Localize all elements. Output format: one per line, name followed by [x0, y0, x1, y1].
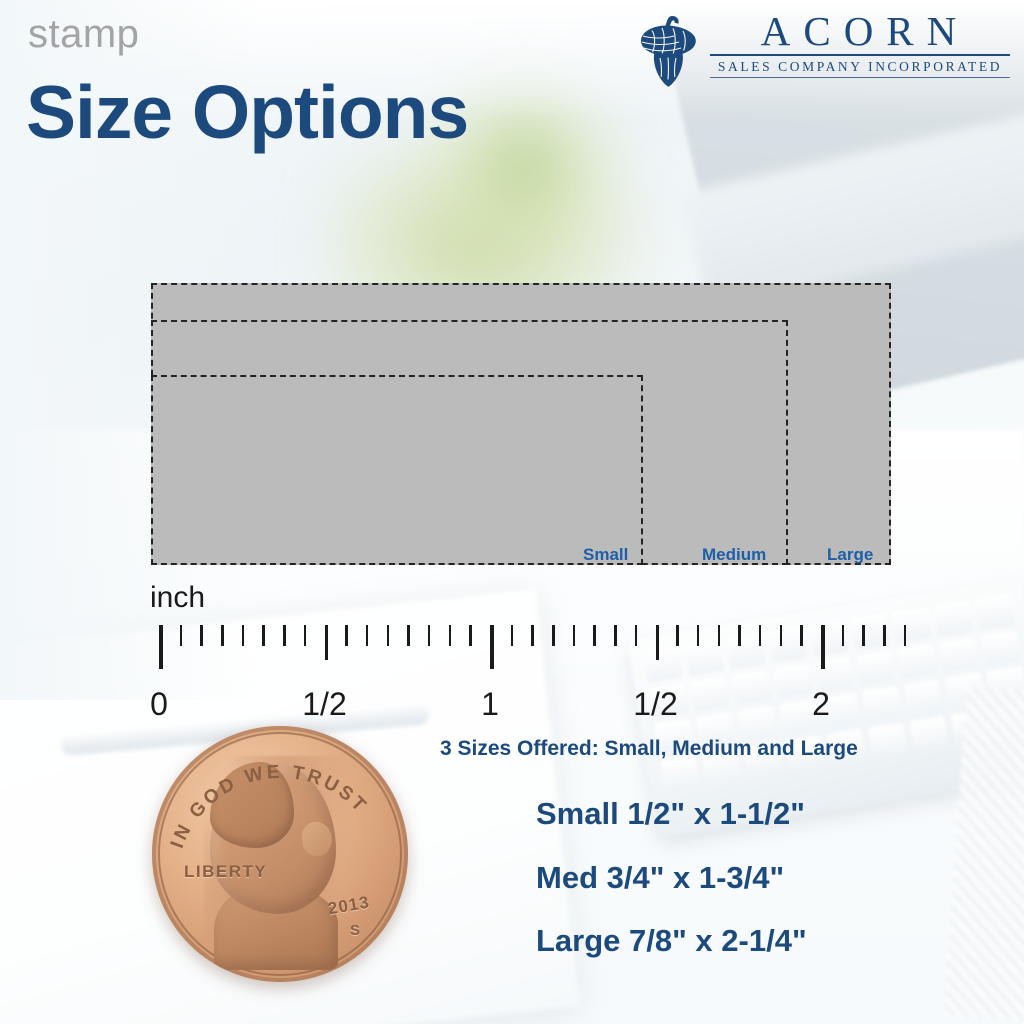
ruler-tick: [200, 625, 203, 646]
ruler-tick: [325, 625, 328, 660]
ruler-tick: [676, 625, 679, 646]
ruler-tick: [449, 625, 452, 646]
ruler-tick: [656, 625, 659, 660]
ruler-tick: [759, 625, 762, 646]
sizes-heading: 3 Sizes Offered: Small, Medium and Large: [440, 738, 858, 759]
ruler-tick: [531, 625, 534, 646]
ruler-label: 2: [812, 688, 830, 720]
ruler-tick: [511, 625, 514, 646]
svg-text:IN GOD WE TRUST: IN GOD WE TRUST: [167, 762, 372, 851]
ruler-tick: [159, 625, 163, 669]
ruler-tick: [573, 625, 576, 646]
ruler-label: 0: [150, 688, 168, 720]
ruler-tick: [842, 625, 845, 646]
poster-canvas: stamp Size Options: [0, 0, 1024, 1024]
ruler-tick: [283, 625, 286, 646]
size-line-small: Small 1/2" x 1-1/2": [536, 798, 805, 829]
ruler-tick: [428, 625, 431, 646]
ruler-tick: [490, 625, 494, 669]
ruler-tick: [242, 625, 245, 646]
ruler-tick: [262, 625, 265, 646]
coin-liberty: LIBERTY: [184, 862, 267, 882]
ruler-tick: [180, 625, 183, 646]
ruler-tick: [387, 625, 390, 646]
ruler-tick: [614, 625, 617, 646]
ruler-tick: [738, 625, 741, 646]
ruler-label: 1: [481, 688, 499, 720]
ruler-tick: [345, 625, 348, 646]
ruler-tick: [469, 625, 472, 646]
penny-coin: IN GOD WE TRUST LIBERTY 2013 S: [152, 726, 408, 982]
ruler-tick: [407, 625, 410, 646]
ruler-tick: [221, 625, 224, 646]
coin-motto: IN GOD WE TRUST: [152, 726, 408, 982]
ruler-label: 1/2: [633, 688, 677, 720]
ruler-unit-label: inch: [150, 583, 205, 613]
ruler-tick: [635, 625, 638, 646]
ruler-tick: [718, 625, 721, 646]
coin-mintmark: S: [350, 922, 360, 939]
ruler-tick: [904, 625, 907, 646]
ruler-tick: [697, 625, 700, 646]
ruler-tick: [821, 625, 825, 669]
ruler-tick: [366, 625, 369, 646]
ruler-tick: [593, 625, 596, 646]
size-line-large: Large 7/8" x 2-1/4": [536, 925, 807, 956]
size-line-medium: Med 3/4" x 1-3/4": [536, 862, 784, 893]
ruler-tick: [780, 625, 783, 646]
ruler-tick: [304, 625, 307, 646]
ruler-tick: [883, 625, 886, 646]
ruler-tick: [862, 625, 865, 646]
ruler-label: 1/2: [302, 688, 346, 720]
ruler-tick: [552, 625, 555, 646]
ruler-tick: [800, 625, 803, 646]
